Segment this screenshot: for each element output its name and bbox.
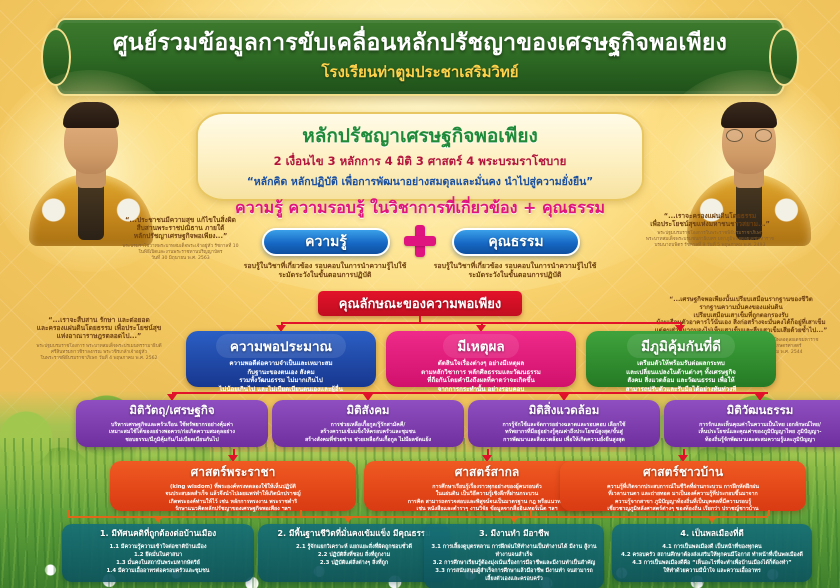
page-title: ศูนย์รวมข้อมูลการขับเคลื่อนหลักปรัชญาของ… [113,30,727,56]
connector-line [300,510,302,516]
dimension-body: การรู้จักใช้และจัดการอย่างฉลาดและรอบคอบ … [474,422,654,444]
knowledge-virtue-headline: ความรู้ ความรอบรู้ ในวิชาการที่เกี่ยวข้อ… [0,196,840,221]
science-title: ศาสตร์ชาวบ้าน [567,463,799,482]
header-banner: ศูนย์รวมข้อมูลการขับเคลื่อนหลักปรัชญาของ… [55,18,785,96]
outcome-body: 3.1 การเลี้ยงดูบุตรหลาน การฝึกฝนให้ทำงาน… [430,543,598,584]
principle-body: ตัดสินใจเรื่องต่างๆ อย่างมีเหตุผลตามหลัก… [393,360,569,394]
plus-icon [404,225,436,257]
dimension-card-society: มิติสังคม การช่วยเหลือเกื้อกูล/รู้รักสาม… [272,400,464,447]
outcome-title: 4. เป็นพลเมืองที่ดี [618,527,806,540]
royal-quote-rama10: “...ประชาชนมีความสุข แก้ไขในสิ่งผิดสืบสา… [118,216,243,262]
outcome-title: 3. มีงานทำ มีอาชีพ [430,527,598,540]
dimension-title: มิติสิ่งแวดล้อม [474,402,654,420]
connector-line [530,510,532,516]
arrow-down-icon [509,516,519,523]
science-card-local-wisdom: ศาสตร์ชาวบ้าน ความรู้ที่เกิดจากประสบการณ… [560,461,806,511]
connector-line [768,510,770,516]
philosophy-title: หลักปรัชญาเศรษฐกิจพอเพียง [216,121,624,151]
principle-card-self-immunity: มีภูมิคุ้มกันที่ดี เตรียมตัวให้พร้อมรับต… [586,331,776,387]
connector-line [68,510,70,516]
principle-card-reasonableness: มีเหตุผล ตัดสินใจเรื่องต่างๆ อย่างมีเหตุ… [386,331,576,387]
dimension-title: มิติวัฒนธรรม [670,402,840,420]
outcome-card-occupation: 3. มีงานทำ มีอาชีพ 3.1 การเลี้ยงดูบุตรหล… [424,524,604,588]
outcome-body: 4.1 การเป็นพลเมืองดี เป็นหน้าที่ของทุกคน… [618,543,806,575]
science-card-royal-wisdom: ศาสตร์พระราชา (king wisdom) ที่พระองค์ทร… [110,461,356,511]
science-body: (king wisdom) ที่พระองค์ทรงทดลองใช้ให้เห… [117,484,349,514]
outcome-title: 1. มีทัศนคติที่ถูกต้องต่อบ้านเมือง [68,527,248,540]
arrow-down-icon [707,516,717,523]
condition-knowledge-label: ความรู้ [305,231,347,253]
principle-body: ความพอดีต่อความจำเป็นและเหมาะสมกับฐานะขอ… [193,360,369,394]
dimension-card-material-economy: มิติวัตถุ/เศรษฐกิจ บริหารเศรษฐกิจและครัว… [76,400,268,447]
royal-quote-left-lower: “...เราจะสืบสาน รักษา และต่อยอดและครองแผ… [14,316,184,362]
header-ribbon: ศูนย์รวมข้อมูลการขับเคลื่อนหลักปรัชญาของ… [55,18,785,96]
portrait-hair [63,102,119,128]
quote-credit: พระปฐมบรมราชโองการในพระราชพิธีบรมราชาภิเ… [640,231,780,249]
arrow-down-icon [343,516,353,523]
condition-virtue-label: คุณธรรม [488,231,543,253]
outcome-title: 2. มีพื้นฐานชีวิตที่มั่นคงเข้มแข็ง มีคุณ… [264,527,444,540]
glasses-icon [726,129,772,142]
principle-title: มีภูมิคุ้มกันที่ดี [593,334,769,358]
condition-virtue-description: รอบรู้ในวิชาที่เกี่ยวข้อง รอบคอบในการนำค… [412,262,618,281]
condition-knowledge-pill[interactable]: ความรู้ [262,228,390,256]
dimension-card-environment: มิติสิ่งแวดล้อม การรู้จักใช้และจัดการอย่… [468,400,660,447]
outcome-body: 1.1 มีความรู้ความเข้าใจต่อชาติบ้านเมือง1… [68,543,248,575]
quote-credit: พระบรมราโชวาทพระบาทสมเด็จพระเจ้าอยู่หัว … [118,244,243,262]
science-body: ความรู้ที่เกิดจากประสบการณ์ในชีวิตที่ผ่า… [567,484,799,514]
dimension-body: การช่วยเหลือเกื้อกูล/รู้รักสามัคคี/สร้าง… [278,422,458,444]
outcome-card-good-citizen: 4. เป็นพลเมืองที่ดี 4.1 การเป็นพลเมืองดี… [612,524,812,582]
dimension-card-culture: มิติวัฒนธรรม การรักและเห็นคุณค่าในความเป… [664,400,840,447]
arrow-down-icon [153,516,163,523]
principle-body: เตรียมตัวให้พร้อมรับต่อผลกระทบและเปลี่ยน… [593,360,769,394]
philosophy-motto: “หลักคิด หลักปฏิบัติ เพื่อการพัฒนาอย่างส… [216,173,624,190]
poster-canvas: ศูนย์รวมข้อมูลการขับเคลื่อนหลักปรัชญาของ… [0,0,840,588]
philosophy-card: หลักปรัชญาเศรษฐกิจพอเพียง 2 เงื่อนไข 3 ห… [196,112,644,201]
condition-virtue-pill[interactable]: คุณธรรม [452,228,580,256]
principle-card-moderation: ความพอประมาณ ความพอดีต่อความจำเป็นและเหม… [186,331,376,387]
outcome-body: 2.1 รู้จักแยกวิเคราะห์ แยกแยะสิ่งที่ผิดถ… [264,543,444,567]
dimension-title: มิติวัตถุ/เศรษฐกิจ [82,402,262,420]
dimension-body: บริหารเศรษฐกิจและครัวเรือน ใช้ทรัพยากรอย… [82,422,262,444]
dimension-body: การรักและเห็นคุณค่าในความเป็นไทย เอกลักษ… [670,422,840,444]
quote-text: “...เราจะสืบสาน รักษา และต่อยอดและครองแผ… [14,316,184,341]
condition-knowledge-description: รอบรู้ในวิชาที่เกี่ยวข้อง รอบคอบในการนำค… [222,262,428,281]
philosophy-counts: 2 เงื่อนไข 3 หลักการ 4 มิติ 3 ศาสตร์ 4 พ… [216,153,624,171]
page-subtitle: โรงเรียนท่าตูมประชาเสริมวิทย์ [321,60,518,84]
connector-line [68,516,768,518]
sufficiency-characteristics-bar: คุณลักษณะของความพอเพียง [318,291,522,316]
connector-line [172,392,768,394]
portrait-hair [721,102,777,128]
outcome-card-attitude: 1. มีทัศนคติที่ถูกต้องต่อบ้านเมือง 1.1 ม… [62,524,254,582]
quote-credit: พระปฐมบรมราชโองการ พระบาทสมเด็จพระปรเมนท… [14,344,184,362]
principle-title: มีเหตุผล [393,334,569,358]
principle-title: ความพอประมาณ [193,334,369,358]
science-title: ศาสตร์พระราชา [117,463,349,482]
outcome-card-foundation: 2. มีพื้นฐานชีวิตที่มั่นคงเข้มแข็ง มีคุณ… [258,524,450,582]
dimension-title: มิติสังคม [278,402,458,420]
